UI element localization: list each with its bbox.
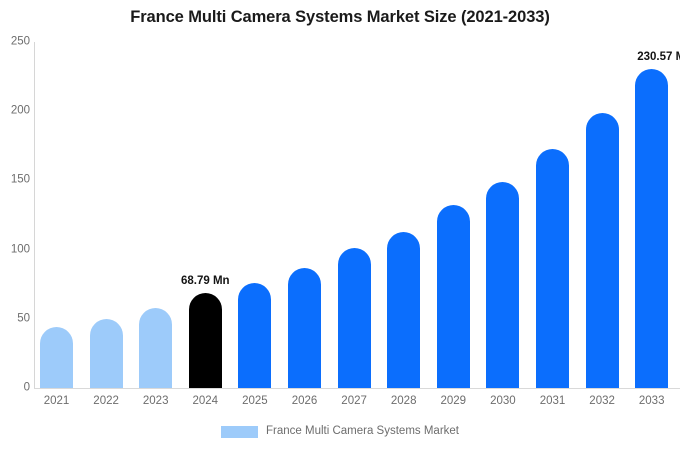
bar-2027[interactable] [338, 248, 371, 388]
y-axis-tick-150: 150 [0, 175, 30, 187]
bar-fill-2025 [238, 283, 271, 388]
y-axis-tick-200: 200 [0, 105, 30, 117]
bar-2030[interactable] [486, 182, 519, 388]
bar-value-label-2024: 68.79 Mn [181, 275, 230, 287]
bar-fill-2027 [338, 248, 371, 388]
legend-swatch-france-multi-camera-systems-market [221, 426, 258, 438]
bar-value-label-2033: 230.57 Mn [637, 51, 680, 63]
y-axis-tick-100: 100 [0, 244, 30, 256]
bar-2031[interactable] [536, 149, 569, 388]
bar-fill-2023 [139, 308, 172, 388]
bar-fill-2028 [387, 232, 420, 388]
bar-2028[interactable] [387, 232, 420, 388]
bar-2022[interactable] [90, 319, 123, 388]
plot-area: 68.79 Mn230.57 Mn [34, 42, 680, 388]
y-axis-tick-250: 250 [0, 36, 30, 48]
bar-fill-2031 [536, 149, 569, 388]
bar-fill-2026 [288, 268, 321, 388]
chart-container: France Multi Camera Systems Market Size … [0, 0, 680, 450]
bar-2032[interactable] [586, 113, 619, 388]
bar-2023[interactable] [139, 308, 172, 388]
y-axis-tick-0: 0 [0, 382, 30, 394]
bar-fill-2024 [189, 293, 222, 388]
bar-2033[interactable]: 230.57 Mn [635, 69, 668, 388]
chart-legend: France Multi Camera Systems Market [0, 426, 680, 438]
legend-label-france-multi-camera-systems-market: France Multi Camera Systems Market [266, 426, 459, 438]
y-axis-tick-50: 50 [0, 313, 30, 325]
bar-2026[interactable] [288, 268, 321, 388]
bar-2025[interactable] [238, 283, 271, 388]
bar-fill-2030 [486, 182, 519, 388]
bar-2029[interactable] [437, 205, 470, 388]
bar-2024[interactable]: 68.79 Mn [189, 293, 222, 388]
bar-fill-2021 [40, 327, 73, 388]
bar-2021[interactable] [40, 327, 73, 388]
bar-fill-2033 [635, 69, 668, 388]
x-axis-tick-2033: 2033 [622, 396, 680, 408]
bar-fill-2022 [90, 319, 123, 388]
bar-fill-2032 [586, 113, 619, 388]
bar-fill-2029 [437, 205, 470, 388]
